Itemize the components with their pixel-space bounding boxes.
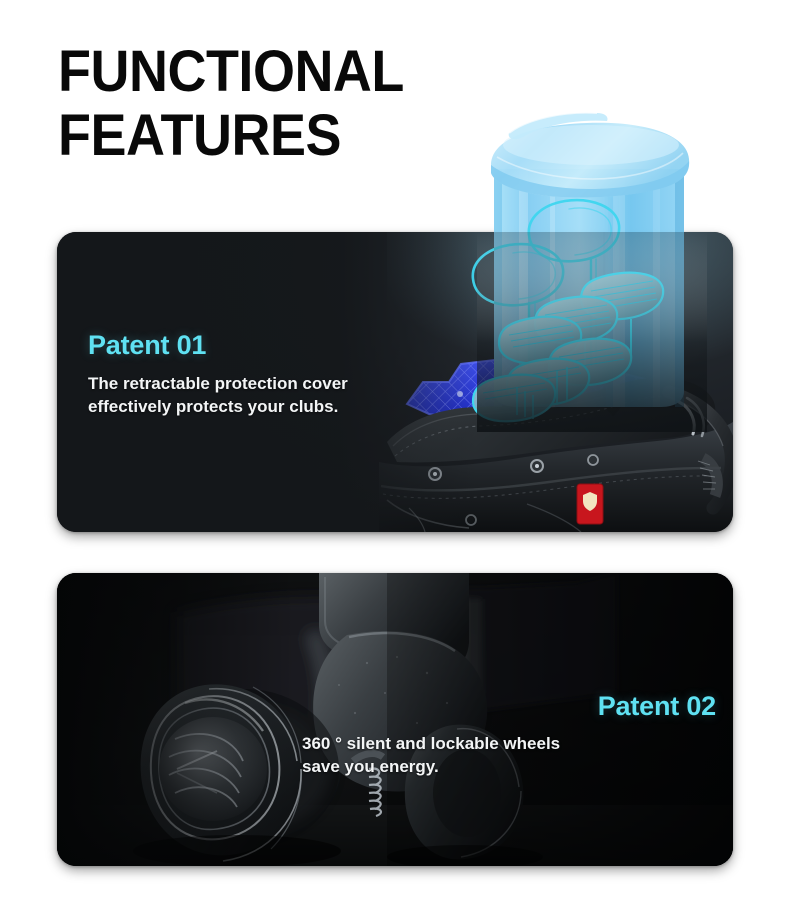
patent-01-text-block: Patent 01 The retractable protection cov… [88, 330, 478, 418]
patent-02-label: Patent 02 [296, 691, 716, 722]
patent-02-body: 360 ° silent and lockable wheels save yo… [296, 732, 716, 778]
patent-02-text-block: Patent 02 360 ° silent and lockable whee… [296, 691, 716, 778]
page-title: FUNCTIONAL FEATURES [58, 40, 616, 168]
patent-01-label: Patent 01 [88, 330, 478, 361]
patent-01-body: The retractable protection cover effecti… [88, 372, 478, 418]
patent-02-card: Patent 02 360 ° silent and lockable whee… [57, 573, 733, 866]
patent-01-card: Patent 01 The retractable protection cov… [57, 232, 733, 532]
